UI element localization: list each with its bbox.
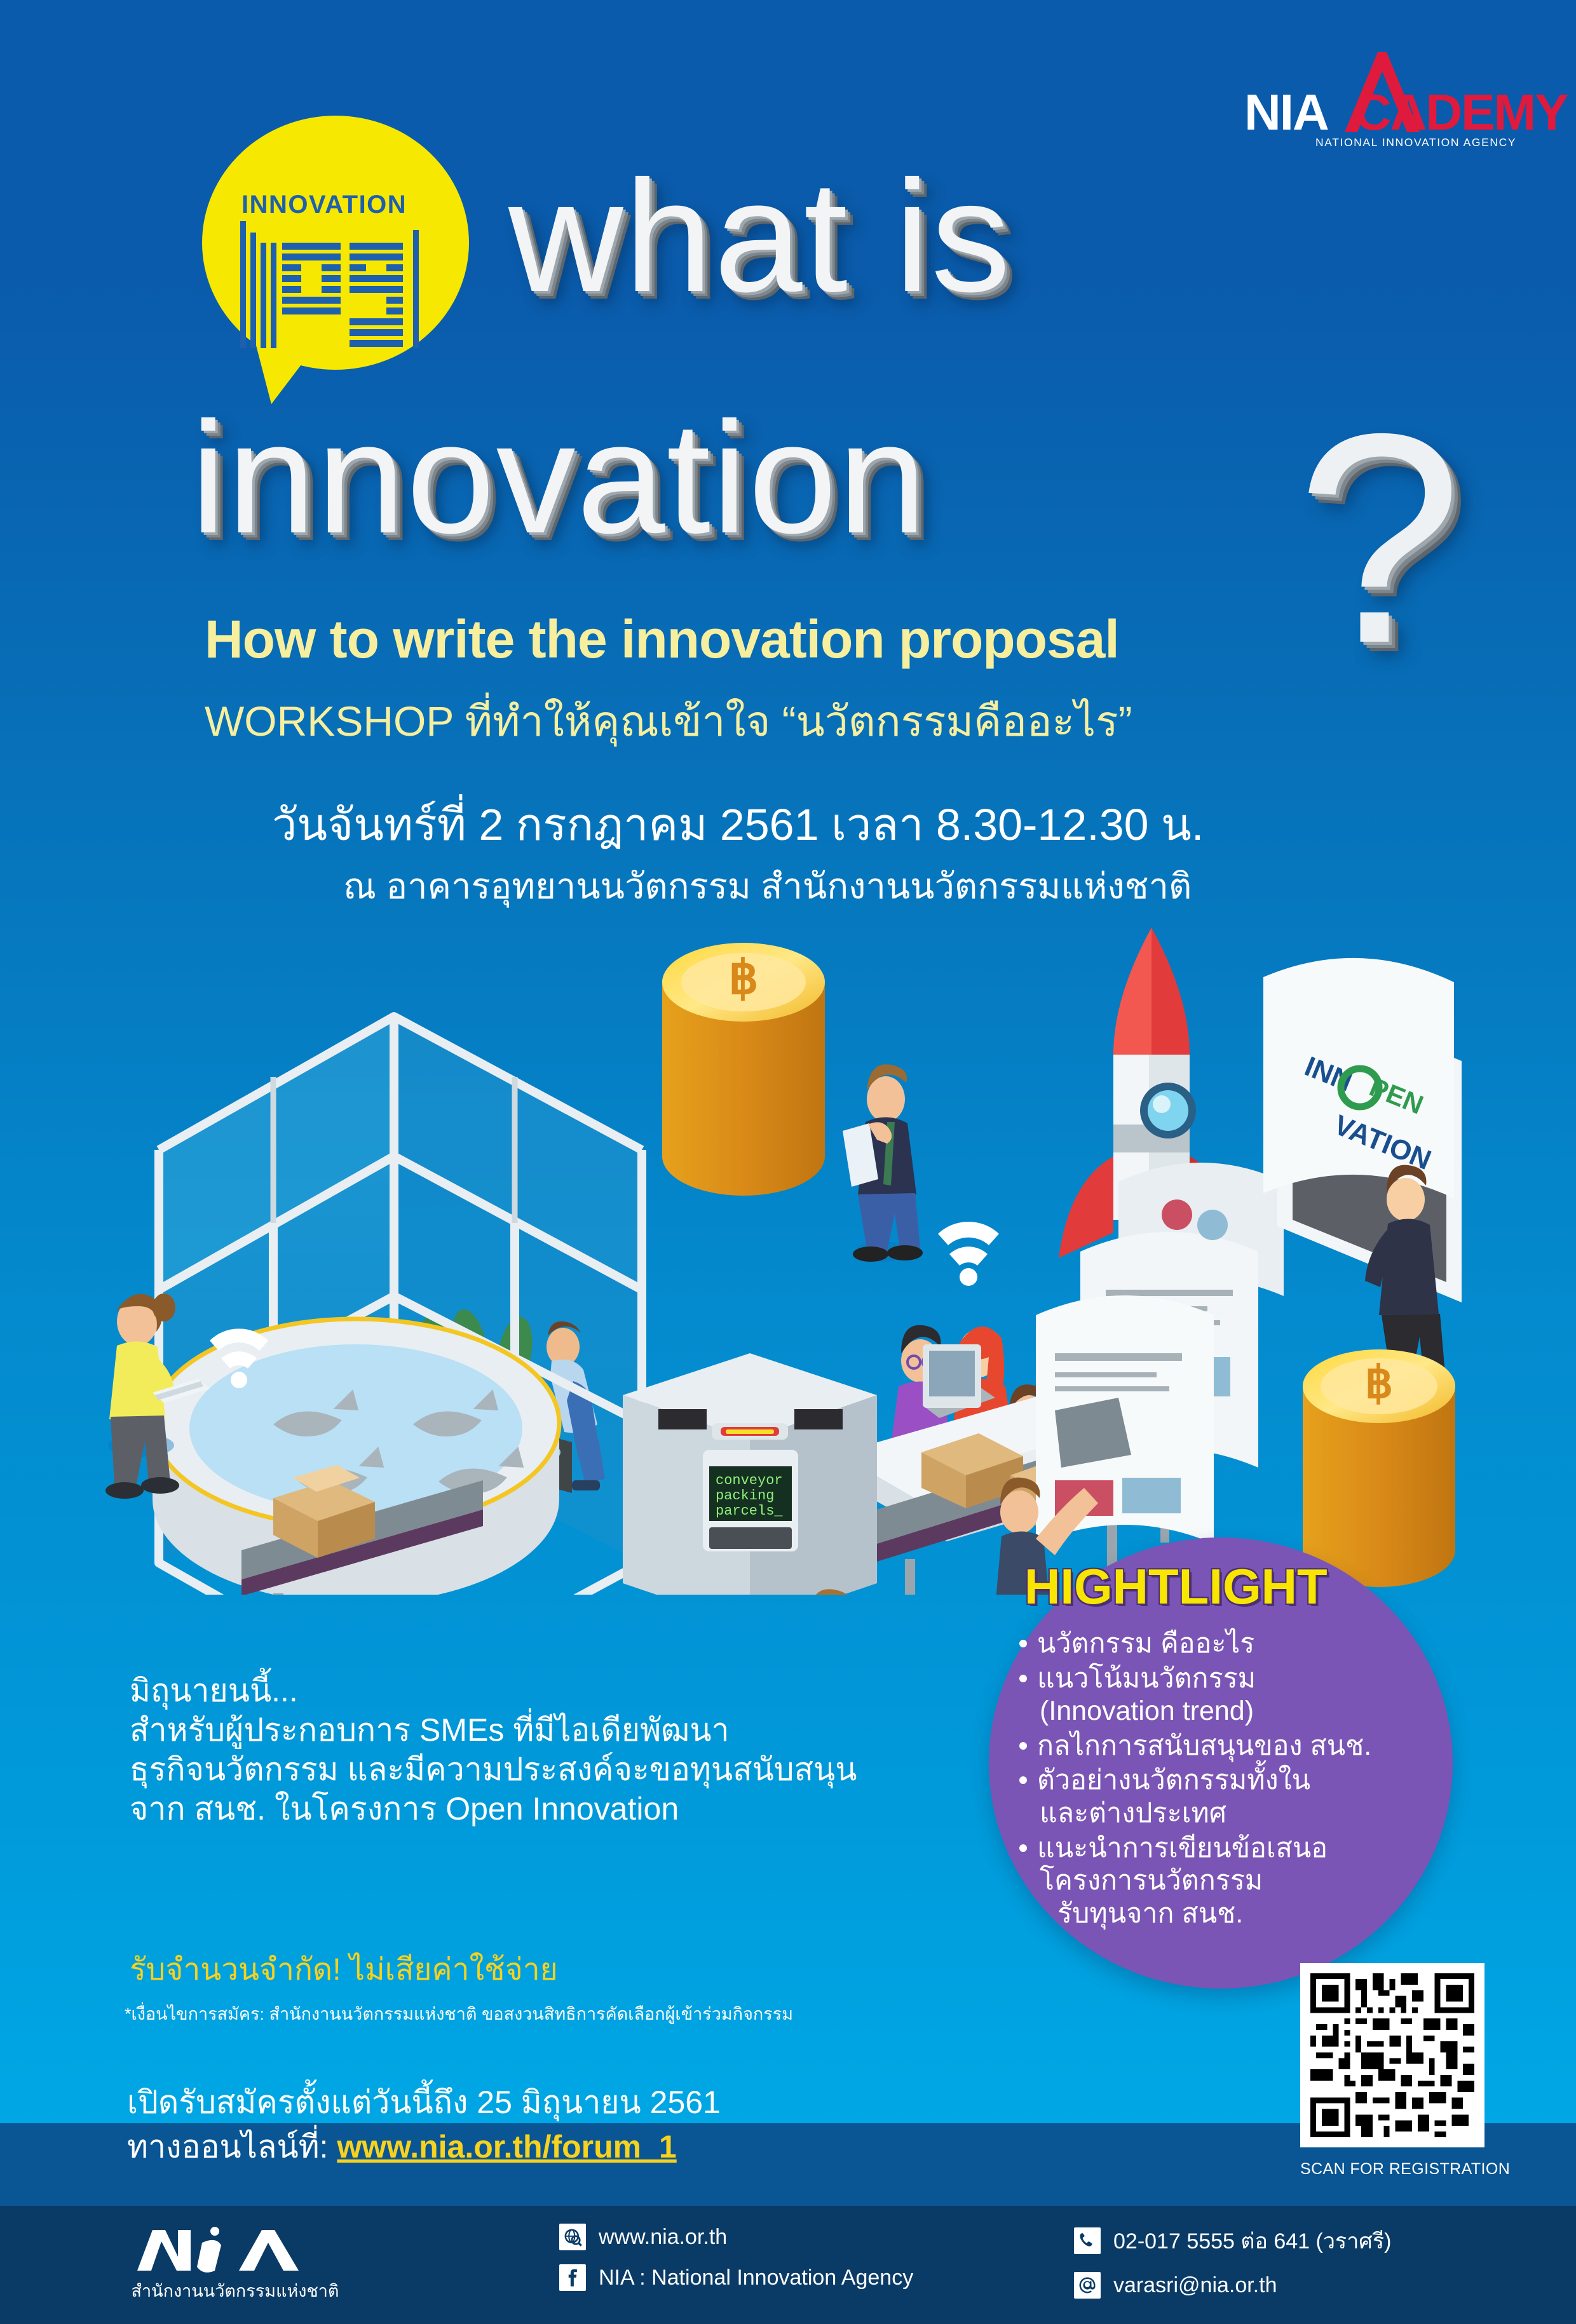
footer-facebook-text: NIA : National Innovation Agency (599, 2266, 913, 2290)
highlight-item-continuation: และต่างประเทศ (1037, 1797, 1453, 1830)
title-line-innovation: innovation (191, 386, 928, 569)
highlight-item-main: แนะนำการเขียนข้อเสนอ (1037, 1833, 1328, 1863)
highlight-item: กลไกการสนับสนุนของ สนช. (1014, 1730, 1453, 1763)
footer-facebook-row[interactable]: NIA : National Innovation Agency (559, 2264, 913, 2291)
highlight-list: นวัตกรรม คืออะไรแนวโน้มนวัตกรรม(Innovati… (1014, 1628, 1453, 1932)
nia-footer-logo-sub: สำนักงานนวัตกรรมแห่งชาติ (108, 2277, 362, 2304)
machine-screen-line3: parcels_ (716, 1503, 783, 1519)
poster-canvas: NIA CADEMY NATIONAL INNOVATION AGENCY IN… (0, 0, 1576, 2324)
wifi-icon-center (938, 1222, 999, 1286)
highlight-item-main: กลไกการสนับสนุนของ สนช. (1037, 1731, 1371, 1761)
qr-code-image (1310, 1973, 1474, 2137)
highlight-item: นวัตกรรม คืออะไร (1014, 1628, 1453, 1661)
highlight-item-main: ตัวอย่างนวัตกรรมทั้งใน (1037, 1765, 1310, 1795)
body-line-4: จาก สนช. ในโครงการ Open Innovation (130, 1789, 968, 1828)
coin-baht-symbol-right: ฿ (1365, 1358, 1394, 1407)
highlight-item-continuation: รับทุนจาก สนช. (1037, 1898, 1453, 1931)
footer-phone-row[interactable]: 02-017 5555 ต่อ 641 (วราศรี) (1074, 2224, 1391, 2258)
scene-svg: ฿ (0, 909, 1576, 1595)
registration-online-line: ทางออนไลน์ที่: www.nia.or.th/forum_1 (127, 2122, 677, 2172)
title-question-mark: ? (1296, 367, 1462, 710)
bullet-dot-icon (1019, 1844, 1027, 1852)
qr-caption: SCAN FOR REGISTRATION (1300, 2160, 1510, 2179)
footer-website-text: www.nia.or.th (599, 2225, 727, 2250)
facebook-icon (559, 2264, 586, 2291)
highlight-item: แนะนำการเขียนข้อเสนอโครงการนวัตกรรมรับทุ… (1014, 1832, 1453, 1931)
phone-icon (1074, 2227, 1101, 2254)
coin-stack-right: ฿ (1303, 1349, 1455, 1587)
limited-seats-note: รับจำนวนจำกัด! ไม่เสียค่าใช้จ่าย (130, 1945, 558, 1994)
qr-code[interactable] (1300, 1963, 1484, 2147)
body-line-3: ธุรกิจนวัตกรรม และมีความประสงค์จะขอทุนสน… (130, 1750, 968, 1789)
nia-wordmark-icon (132, 2224, 329, 2277)
body-line-1: มิถุนายนนี้... (130, 1671, 968, 1710)
coin-stack-left: ฿ (662, 943, 825, 1196)
bullet-dot-icon (1019, 1640, 1027, 1647)
event-venue: ณ อาคารอุทยานนวัตกรรม สำนักงานนวัตกรรมแห… (343, 858, 1192, 914)
disclaimer-note: *เงื่อนไขการสมัคร: สำนักงานนวัตกรรมแห่งช… (125, 2000, 793, 2027)
bullet-dot-icon (1019, 1776, 1027, 1784)
at-sign-icon (1074, 2272, 1101, 2299)
isometric-illustration-scene: ฿ (0, 909, 1576, 1595)
nia-footer-logo: สำนักงานนวัตกรรมแห่งชาติ (108, 2224, 362, 2306)
footer-website-row[interactable]: www.nia.or.th (559, 2224, 913, 2250)
coin-baht-symbol: ฿ (728, 951, 758, 1004)
highlight-item-main: นวัตกรรม คืออะไร (1037, 1628, 1254, 1659)
subtitle-thai: WORKSHOP ที่ทำให้คุณเข้าใจ “นวัตกรรมคืออ… (205, 688, 1132, 755)
title-line-what-is: what is (508, 145, 1012, 327)
footer-email-text: varasri@nia.or.th (1113, 2273, 1277, 2298)
highlight-item-continuation: โครงการนวัตกรรม (1037, 1865, 1453, 1898)
bullet-dot-icon (1019, 1675, 1027, 1682)
bullet-dot-icon (1019, 1742, 1027, 1750)
highlight-item: แนวโน้มนวัตกรรม(Innovation trend) (1014, 1663, 1453, 1728)
main-title-group: what is innovation ? (0, 0, 1576, 635)
globe-icon (559, 2224, 586, 2250)
highlight-item-continuation: (Innovation trend) (1037, 1695, 1453, 1728)
registration-period: เปิดรับสมัครตั้งแต่วันนี้ถึง 25 มิถุนายน… (127, 2077, 721, 2128)
footer-contact-col-left: www.nia.or.th NIA : National Innovation … (559, 2224, 913, 2305)
footer-contact-col-right: 02-017 5555 ต่อ 641 (วราศรี) varasri@nia… (1074, 2224, 1391, 2313)
highlight-item: ตัวอย่างนวัตกรรมทั้งในและต่างประเทศ (1014, 1764, 1453, 1830)
highlight-item-main: แนวโน้มนวัตกรรม (1037, 1663, 1256, 1694)
footer-email-row[interactable]: varasri@nia.or.th (1074, 2272, 1391, 2299)
subtitle-english: How to write the innovation proposal (205, 609, 1119, 670)
machine-screen-line1: conveyor (716, 1473, 783, 1489)
tablet-open-innovation-poster: INN PEN VATION (1263, 958, 1462, 1382)
body-line-2: สำหรับผู้ประกอบการ SMEs ที่มีไอเดียพัฒนา (130, 1710, 968, 1750)
event-date-time: วันจันทร์ที่ 2 กรกฎาคม 2561 เวลา 8.30-12… (272, 789, 1204, 860)
registration-online-prefix: ทางออนไลน์ที่: (127, 2129, 337, 2165)
machine-screen-line2: packing (716, 1488, 774, 1504)
registration-url-link[interactable]: www.nia.or.th/forum_1 (337, 2129, 676, 2165)
footer-phone-text: 02-017 5555 ต่อ 641 (วราศรี) (1113, 2224, 1391, 2258)
businessman-with-clipboard (843, 1064, 923, 1262)
printing-press-illustration (990, 1163, 1284, 1595)
body-copy-block: มิถุนายนนี้... สำหรับผู้ประกอบการ SMEs ท… (130, 1671, 968, 1828)
highlight-title: HIGHTLIGHT (1024, 1558, 1328, 1616)
